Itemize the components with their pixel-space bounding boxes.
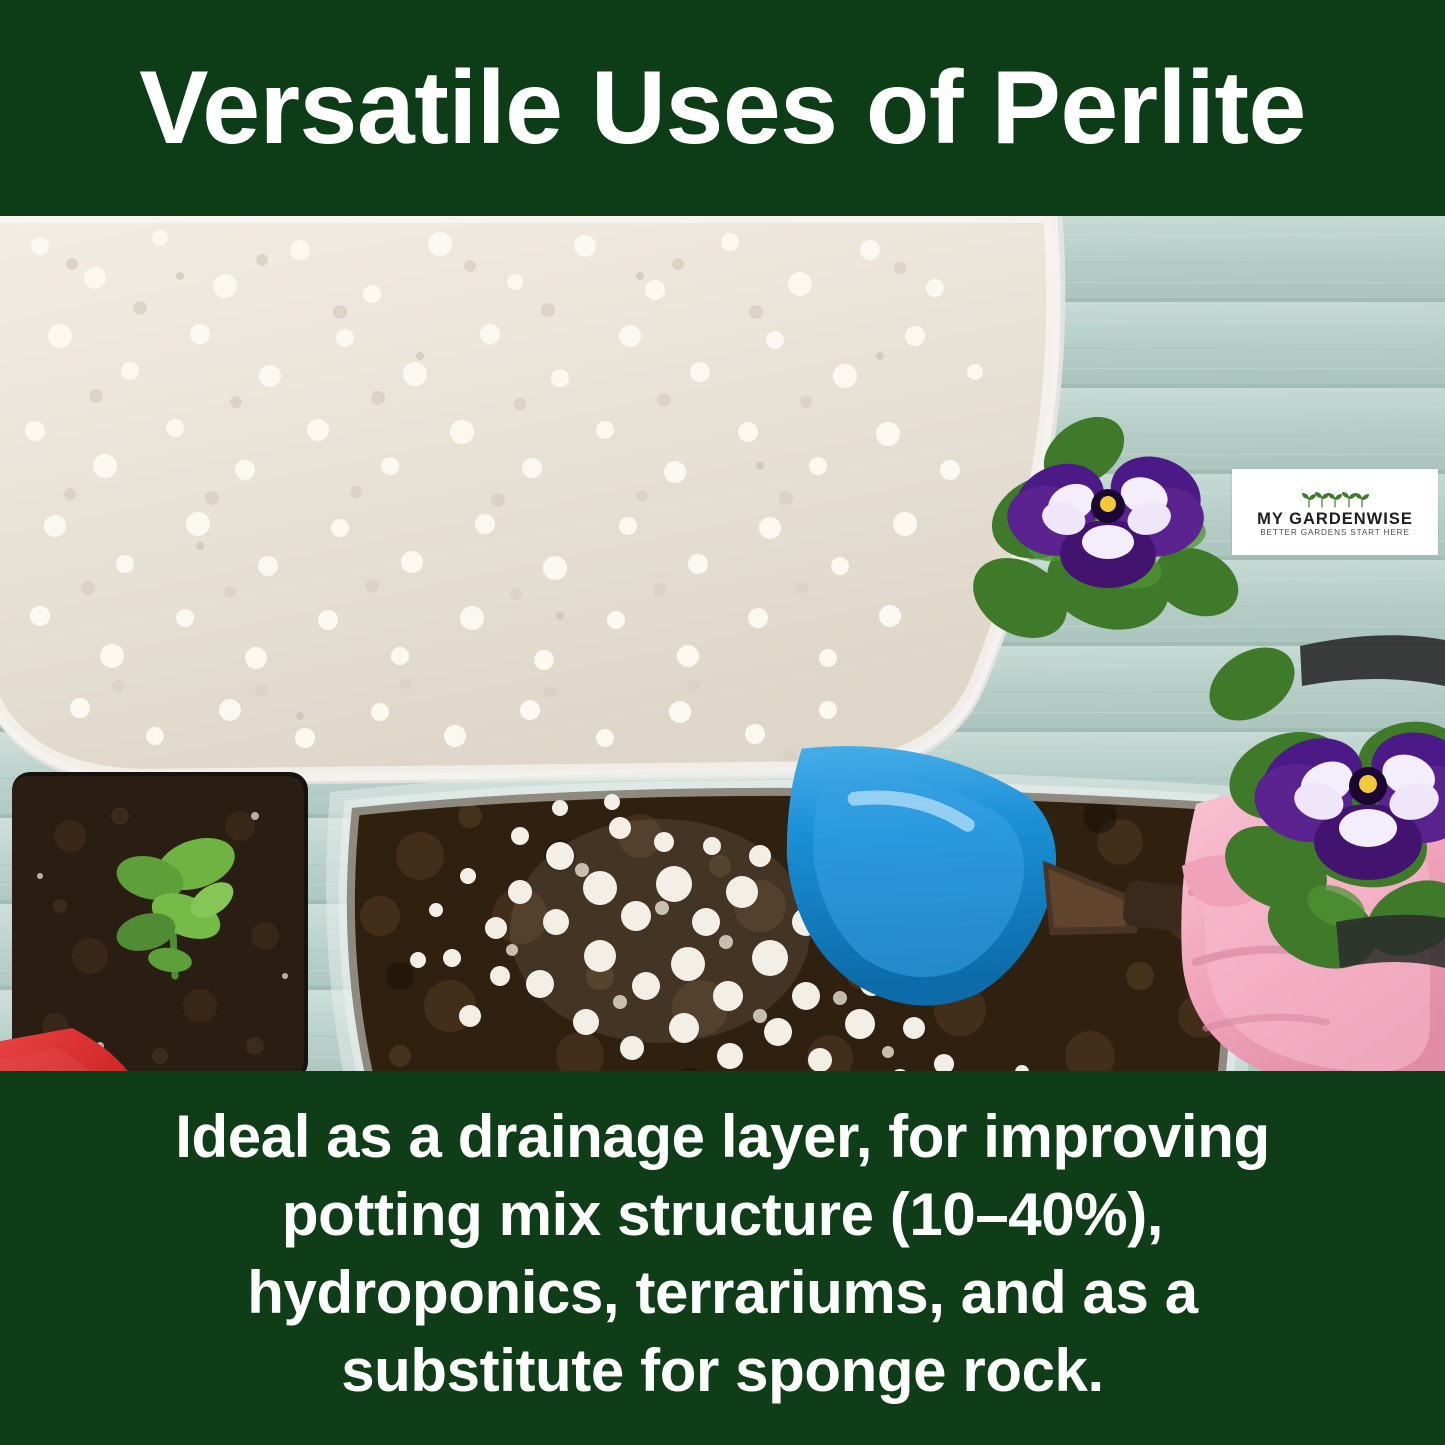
flower-pot-rim bbox=[1300, 635, 1445, 686]
flower-pot-rim-lower bbox=[1336, 915, 1445, 968]
seedling-pot bbox=[12, 772, 308, 1071]
caption-line-2: potting mix structure (10–40%), bbox=[282, 1176, 1163, 1254]
header-band: Versatile Uses of Perlite bbox=[0, 0, 1445, 216]
garden-photo bbox=[0, 216, 1445, 1071]
logo-tagline: BETTER GARDENS START HERE bbox=[1260, 529, 1410, 537]
perlite-infographic: Versatile Uses of Perlite bbox=[0, 0, 1445, 1445]
logo-badge[interactable]: MY GARDENWISE BETTER GARDENS START HERE bbox=[1232, 469, 1438, 555]
caption-band: Ideal as a drainage layer, for improving… bbox=[0, 1071, 1445, 1445]
page-title: Versatile Uses of Perlite bbox=[119, 55, 1326, 161]
photo-stage: MY GARDENWISE BETTER GARDENS START HERE bbox=[0, 216, 1445, 1071]
perlite-tray bbox=[0, 216, 1065, 786]
logo-name: MY GARDENWISE bbox=[1257, 511, 1413, 528]
seedling-sprouts-icon bbox=[1292, 487, 1378, 509]
caption-line-3: hydroponics, terrariums, and as a bbox=[247, 1254, 1197, 1332]
caption-line-4: substitute for sponge rock. bbox=[341, 1332, 1104, 1410]
caption-line-1: Ideal as a drainage layer, for improving bbox=[175, 1098, 1269, 1176]
